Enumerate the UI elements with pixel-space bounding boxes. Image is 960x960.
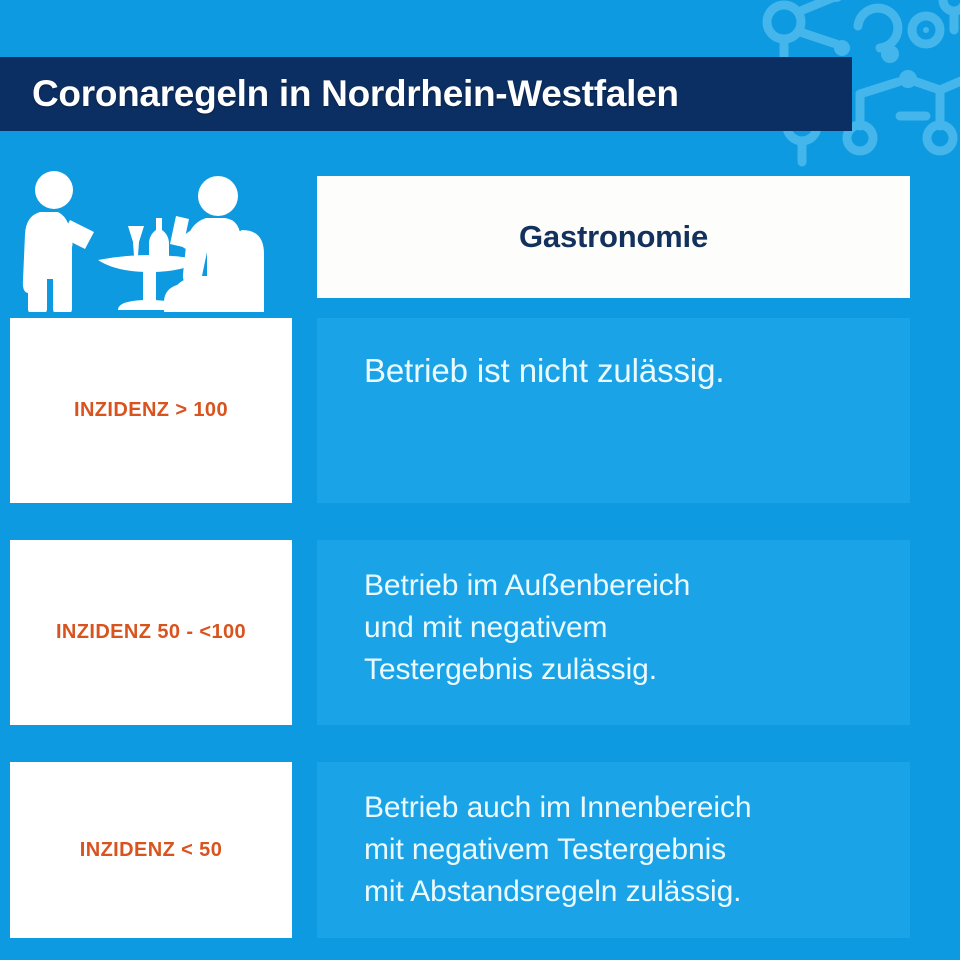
rule-panel-2: Betrieb im Außenbereich und mit negative… [317, 540, 910, 725]
rule-line: Betrieb ist nicht zulässig. [364, 348, 724, 394]
incidence-box-2: INZIDENZ 50 - <100 [10, 540, 292, 725]
rule-text: Betrieb ist nicht zulässig. [364, 348, 724, 394]
page-title: Coronaregeln in Nordrhein-Westfalen [0, 73, 679, 115]
rule-line: Betrieb im Außenbereich [364, 565, 690, 607]
category-label: Gastronomie [519, 219, 708, 255]
rule-panel-3: Betrieb auch im Innenbereich mit negativ… [317, 762, 910, 938]
incidence-label: INZIDENZ 50 - <100 [56, 621, 246, 644]
incidence-label: INZIDENZ > 100 [74, 399, 228, 422]
rule-text: Betrieb auch im Innenbereich mit negativ… [364, 787, 751, 913]
rule-line: Betrieb auch im Innenbereich [364, 787, 751, 829]
rule-line: mit negativem Testergebnis [364, 829, 751, 871]
rules-grid: Gastronomie INZIDENZ > 100 Betrieb ist n… [0, 168, 960, 958]
rule-line: mit Abstandsregeln zulässig. [364, 871, 751, 913]
category-header: Gastronomie [317, 176, 910, 298]
rule-text: Betrieb im Außenbereich und mit negative… [364, 565, 690, 691]
title-banner: Coronaregeln in Nordrhein-Westfalen [0, 57, 852, 131]
rule-panel-1: Betrieb ist nicht zulässig. [317, 318, 910, 503]
rule-line: Testergebnis zulässig. [364, 649, 690, 691]
incidence-box-1: INZIDENZ > 100 [10, 318, 292, 503]
restaurant-dining-icon [10, 168, 292, 312]
rule-line: und mit negativem [364, 607, 690, 649]
incidence-label: INZIDENZ < 50 [80, 839, 222, 862]
incidence-box-3: INZIDENZ < 50 [10, 762, 292, 938]
infographic-poster: Coronaregeln in Nordrhein-Westfalen [0, 0, 960, 960]
